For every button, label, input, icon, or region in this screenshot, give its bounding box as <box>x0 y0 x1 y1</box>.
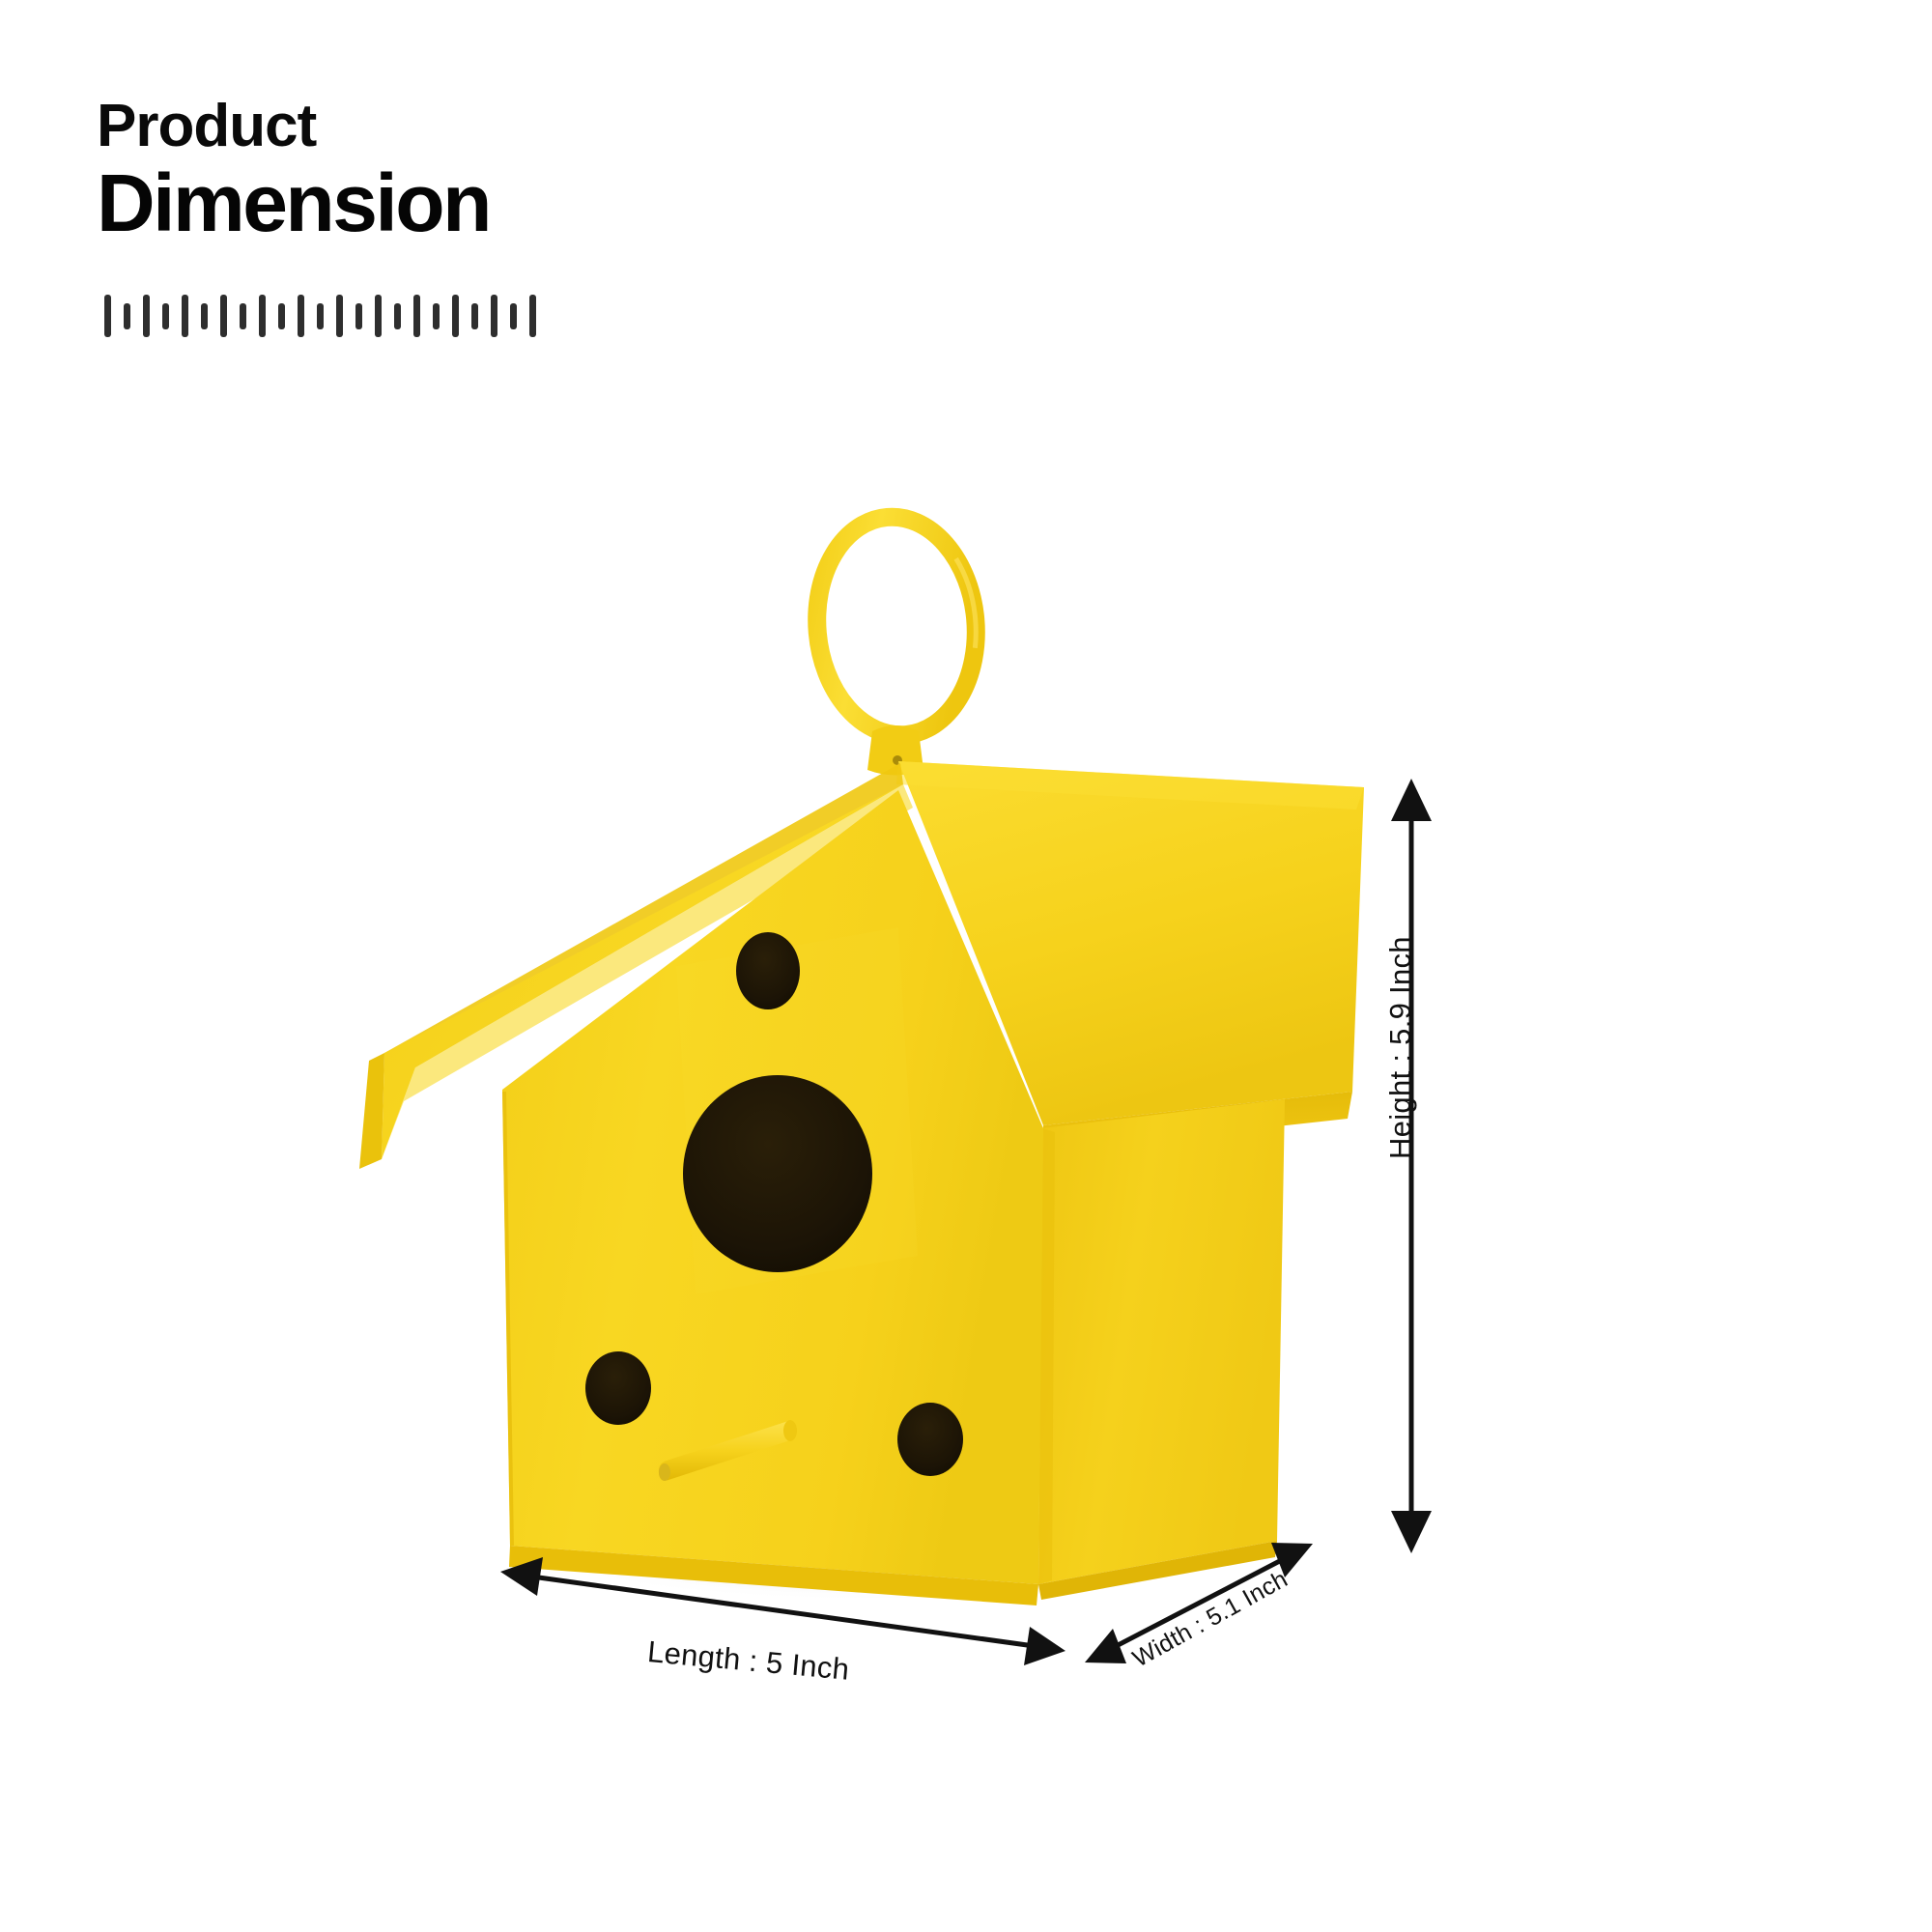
contact-shadow <box>541 1509 1236 1602</box>
upper-vent-hole <box>736 932 800 1009</box>
entrance-hole <box>683 1075 872 1272</box>
lower-left-hole <box>585 1351 651 1425</box>
ruler-tick <box>259 295 266 337</box>
ruler-tick <box>375 295 382 337</box>
hanging-ring <box>808 510 984 775</box>
page-title-line1: Product <box>97 97 773 156</box>
ruler-tick <box>394 303 401 329</box>
ruler-tick <box>510 303 517 329</box>
product-illustration <box>0 0 1932 1932</box>
ruler-tick <box>201 303 208 329</box>
perch-rod <box>659 1420 797 1481</box>
ruler-tick <box>240 303 246 329</box>
ruler-tick <box>433 303 440 329</box>
roof-right-panel <box>896 761 1364 1152</box>
ruler-tick <box>220 295 227 337</box>
lower-right-hole <box>897 1403 963 1476</box>
ruler-tick <box>471 303 478 329</box>
height-dimension-arrow <box>1391 779 1432 1553</box>
ruler-tick <box>413 295 420 337</box>
ruler-tick <box>298 295 304 337</box>
page-title-line2: Dimension <box>97 160 773 245</box>
side-face <box>1038 1099 1285 1600</box>
ruler-tick <box>104 295 111 337</box>
ruler-tick <box>452 295 459 337</box>
ruler-tick <box>529 295 536 337</box>
ruler-tick <box>317 303 324 329</box>
ruler-ticks-icon <box>104 293 529 337</box>
ruler-tick <box>278 303 285 329</box>
width-dimension-arrow <box>1085 1543 1313 1663</box>
ruler-tick <box>143 295 150 337</box>
width-dimension-label: Width : 5.1 Inch <box>1128 1565 1293 1673</box>
ruler-tick <box>162 303 169 329</box>
product-dimension-infographic: Product Dimension <box>0 0 1932 1932</box>
ruler-tick <box>182 295 188 337</box>
roof-left-panel <box>359 763 913 1169</box>
length-dimension-label: Length : 5 Inch <box>646 1634 851 1688</box>
front-face <box>502 790 1043 1605</box>
ruler-tick <box>355 303 362 329</box>
ruler-tick <box>491 295 497 337</box>
ruler-tick <box>124 303 130 329</box>
title-block: Product Dimension <box>97 97 773 245</box>
ruler-tick <box>336 295 343 337</box>
height-dimension-label: Height : 5.9 Inch <box>1383 936 1418 1159</box>
